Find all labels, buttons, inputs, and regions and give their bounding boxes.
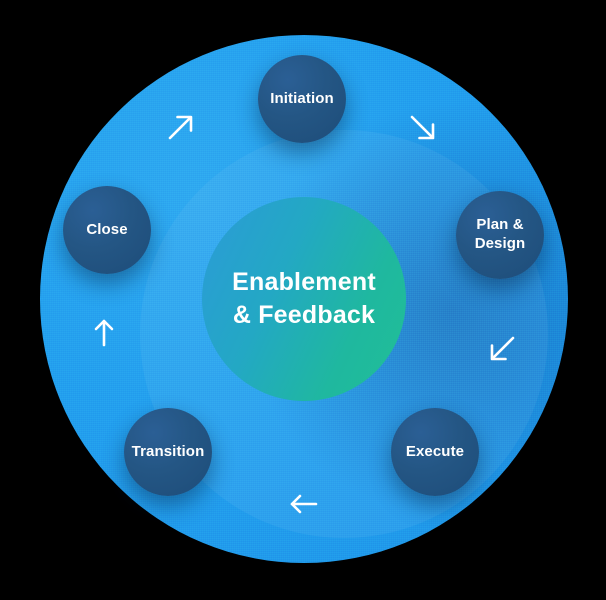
stage-label-transition: Transition bbox=[132, 443, 205, 462]
stage-label-close: Close bbox=[86, 221, 127, 240]
stage-label-plan-design: Plan & Design bbox=[475, 216, 526, 253]
stage-label-initiation: Initiation bbox=[270, 90, 334, 109]
center-core-label: Enablement & Feedback bbox=[232, 266, 376, 332]
stage-node-initiation[interactable]: Initiation bbox=[258, 55, 346, 143]
process-cycle-diagram: Enablement & Feedback Initiation Plan & … bbox=[0, 0, 606, 600]
center-core-circle: Enablement & Feedback bbox=[202, 197, 406, 401]
stage-node-close[interactable]: Close bbox=[63, 186, 151, 274]
stage-node-transition[interactable]: Transition bbox=[124, 408, 212, 496]
stage-label-execute: Execute bbox=[406, 443, 464, 462]
stage-node-plan-design[interactable]: Plan & Design bbox=[456, 191, 544, 279]
stage-node-execute[interactable]: Execute bbox=[391, 408, 479, 496]
